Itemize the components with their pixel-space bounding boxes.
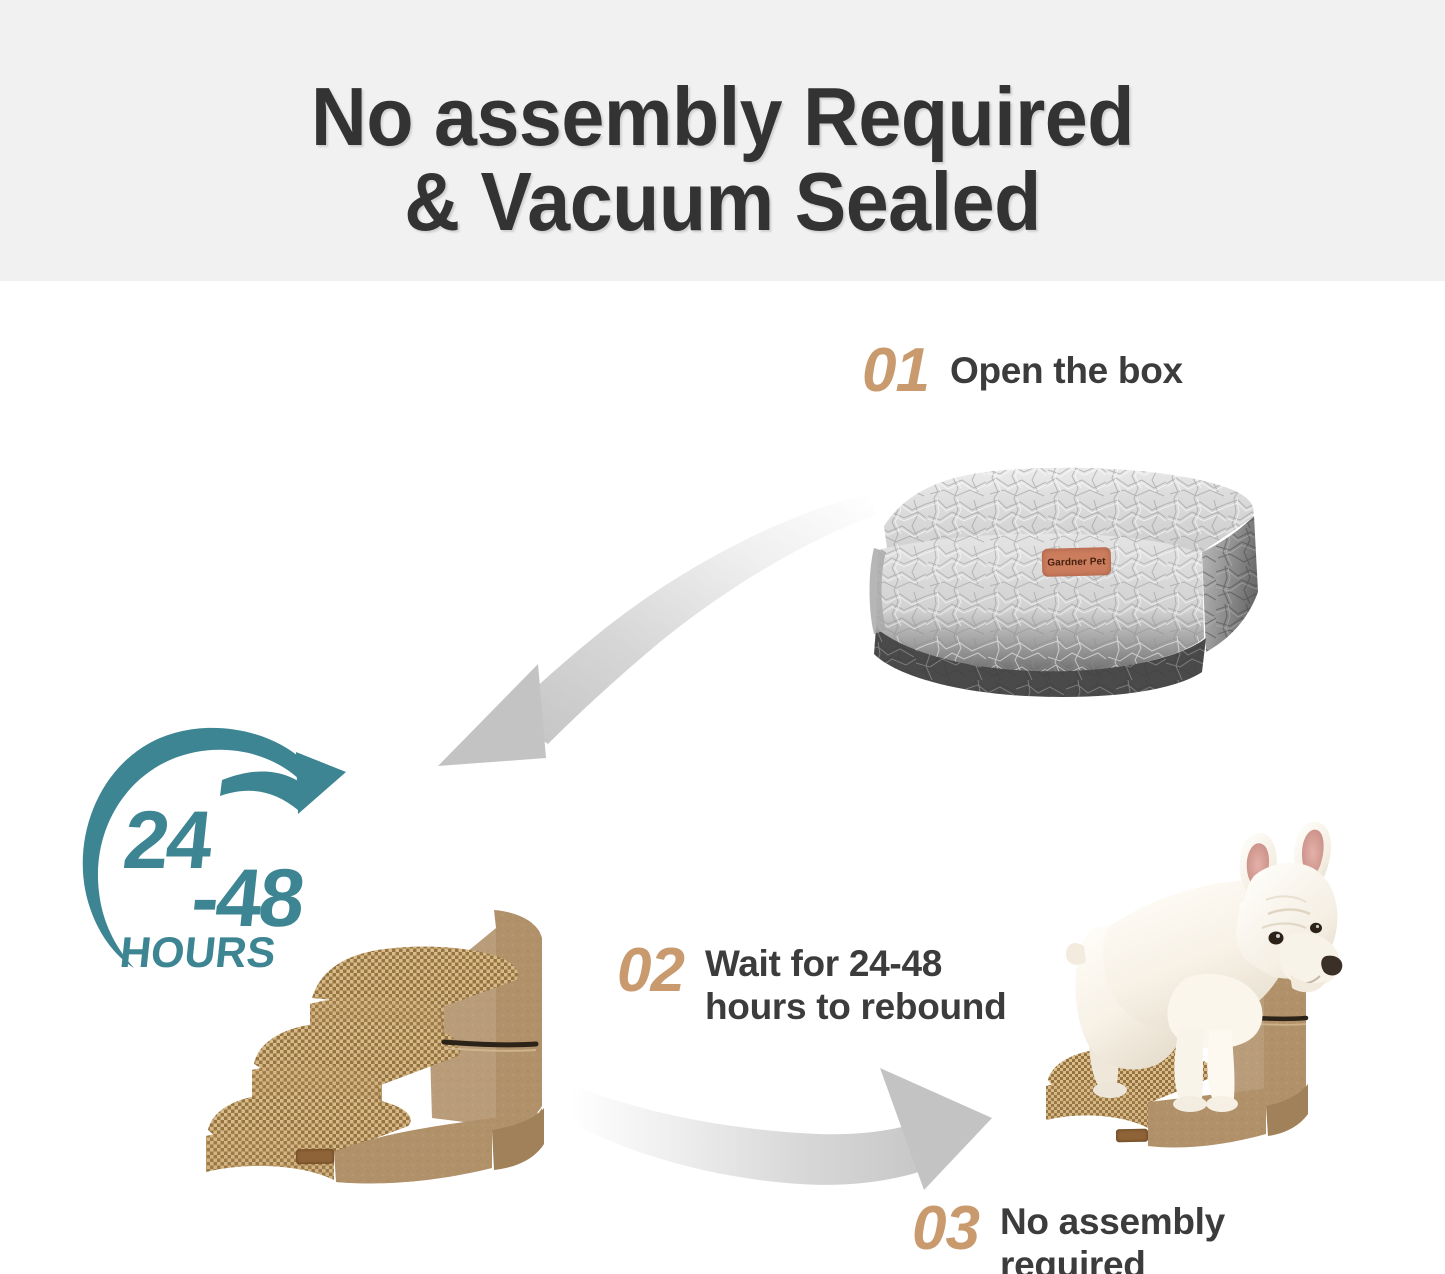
product-brand-tag — [1116, 1129, 1148, 1143]
pet-stairs-rebounded — [196, 868, 596, 1198]
french-bulldog — [1054, 818, 1354, 1128]
package-brand-tag: Gardner Pet — [1042, 547, 1112, 577]
step-02-caption: 02 Wait for 24-48 hours to rebound — [617, 940, 1006, 1029]
step-01-caption: 01 Open the box — [862, 340, 1183, 402]
flow-arrow-2 — [568, 1056, 1058, 1231]
step-01-number: 01 — [862, 340, 929, 402]
step-02-label: Wait for 24-48 hours to rebound — [705, 940, 1006, 1029]
step-02-number: 02 — [617, 940, 684, 1002]
header-band: No assembly Required & Vacuum Sealed — [0, 0, 1445, 281]
infographic-canvas: No assembly Required & Vacuum Sealed 01 … — [0, 0, 1445, 1274]
package-brand-label: Gardner Pet — [1047, 556, 1106, 569]
page-title: No assembly Required & Vacuum Sealed — [51, 74, 1395, 245]
product-brand-tag — [296, 1149, 334, 1165]
flow-arrow-1 — [398, 486, 878, 791]
step-01-label: Open the box — [950, 340, 1183, 393]
vacuum-sealed-package: Gardner Pet — [866, 452, 1268, 700]
